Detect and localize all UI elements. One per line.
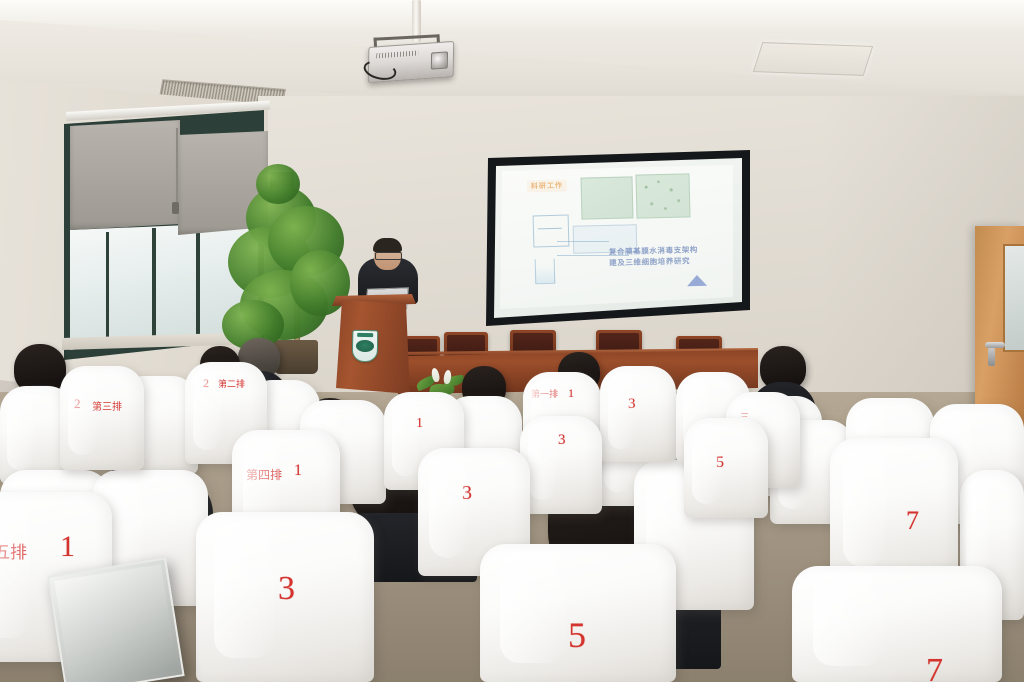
- seat-第二排-2[interactable]: 第三排2: [60, 366, 144, 470]
- door-handle[interactable]: [985, 342, 1005, 348]
- plant-pot: [274, 340, 318, 374]
- plant-foliage: [256, 164, 300, 204]
- slide-connector-line: [557, 241, 609, 242]
- projector-vent: [376, 50, 418, 58]
- seat-number: 1: [60, 530, 75, 564]
- institution-emblem-icon: [352, 330, 379, 362]
- seat-number: 1: [416, 416, 423, 432]
- conference-room-photo: 科研工作 复合膜基膜水消毒支架构 建及三维细胞培养研究: [0, 0, 1024, 682]
- seat-number: 2: [203, 376, 209, 391]
- slide-diagram-icon: [533, 215, 570, 248]
- seat-number: 1: [294, 462, 302, 480]
- eyeglasses-icon: [375, 252, 402, 260]
- seat-第五排-7[interactable]: 7: [792, 566, 1002, 682]
- window-mullion: [196, 226, 200, 342]
- seat-第五排-5[interactable]: 5: [480, 544, 676, 682]
- door-lock-icon: [988, 348, 995, 366]
- seat-第二排-3[interactable]: 3: [520, 416, 602, 514]
- seat-number: 3: [462, 482, 472, 505]
- window-mullion: [106, 232, 109, 348]
- seat-number: 1: [568, 386, 574, 401]
- slide-image-left: [580, 176, 633, 219]
- window-mullion: [152, 228, 156, 346]
- ceiling-slab: [0, 0, 1024, 30]
- seat-number: 3: [628, 396, 636, 413]
- seat-number: 2: [74, 396, 81, 412]
- seat-row-label: 第三排: [92, 398, 122, 413]
- foreground-laptop[interactable]: [47, 557, 184, 682]
- blind-chain[interactable]: [176, 128, 178, 206]
- presenter-hair: [373, 238, 402, 252]
- seat-第五排-3[interactable]: 3: [196, 512, 374, 682]
- door-glass-panel: [1003, 244, 1024, 352]
- slide-logo-icon: [687, 275, 707, 287]
- seat-number: 7: [926, 652, 943, 682]
- seat-第一排-3[interactable]: 3: [600, 366, 676, 462]
- plant-foliage: [290, 250, 350, 316]
- roller-blind[interactable]: [70, 120, 180, 230]
- seat-row-label: 第五排: [0, 538, 27, 563]
- slide-body-text: 复合膜基膜水消毒支架构 建及三维细胞培养研究: [609, 244, 718, 269]
- seat-number: 3: [558, 432, 566, 449]
- seat-row-label: 第四排: [246, 466, 282, 483]
- slide-title: 科研工作: [527, 179, 567, 192]
- seat-number: 5: [568, 614, 586, 656]
- seat-number: 7: [906, 506, 919, 536]
- presentation-slide: 科研工作 复合膜基膜水消毒支架构 建及三维细胞培养研究: [497, 163, 735, 309]
- slide-image-right: [635, 173, 690, 218]
- seat-row-label: 第二排: [218, 377, 245, 390]
- seat-row-label: 第一排: [531, 387, 558, 400]
- ceiling-light-panel-icon: [753, 42, 873, 76]
- seat-number: 3: [278, 570, 295, 608]
- slide-beaker-icon: [535, 259, 556, 285]
- blind-pull-handle[interactable]: [172, 202, 179, 214]
- projector-lens: [431, 51, 448, 69]
- slide-body-line-2: 建及三维细胞培养研究: [609, 255, 717, 269]
- projector-icon: [368, 41, 454, 83]
- seat-number: 5: [716, 454, 724, 472]
- seat-第二排-5[interactable]: 5: [684, 418, 768, 518]
